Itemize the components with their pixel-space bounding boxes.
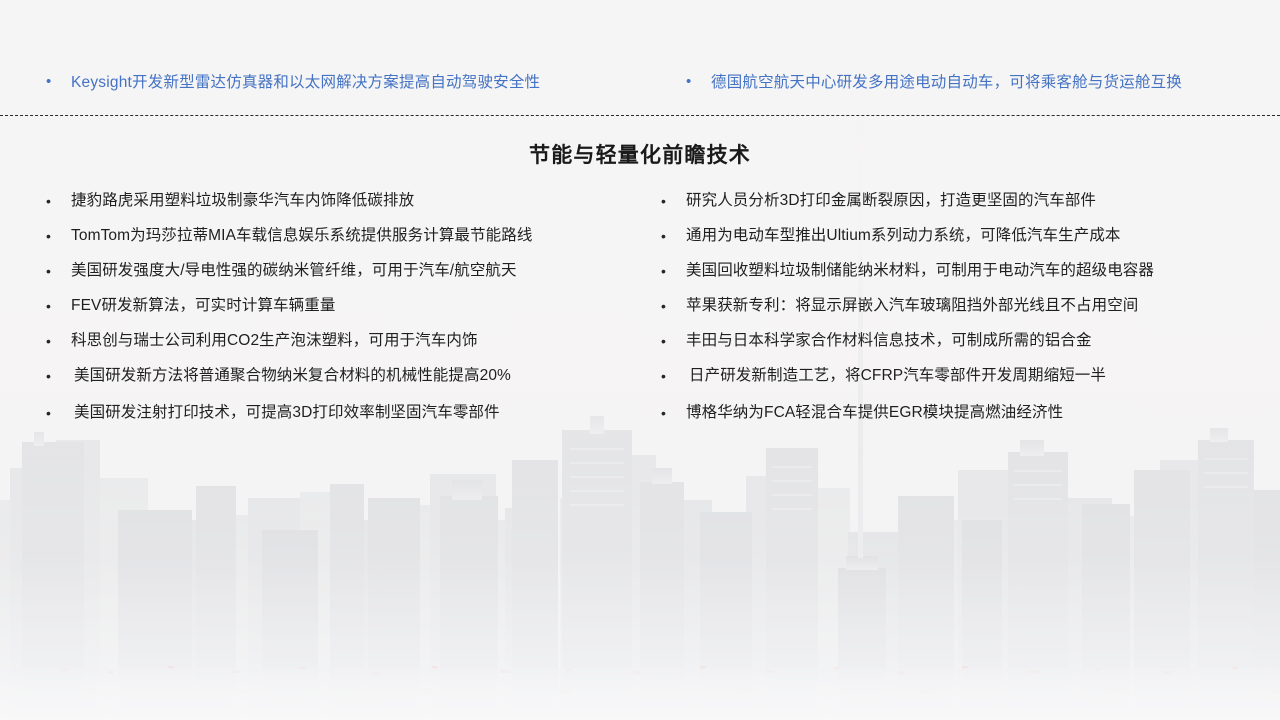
list-item-text: 研究人员分析3D打印金属断裂原因，打造更坚固的汽车部件 (673, 190, 1096, 212)
bullet-icon: • (686, 74, 698, 89)
bullet-icon: • (661, 260, 673, 282)
bullet-icon: • (46, 225, 58, 247)
news-item-1-text: 德国航空航天中心研发多用途电动自动车，可将乘客舱与货运舱互换 (698, 70, 1182, 92)
list-item[interactable]: • FEV研发新算法，可实时计算车辆重量 (46, 295, 640, 330)
list-item-text: 丰田与日本科学家合作材料信息技术，可制成所需的铝合金 (673, 330, 1092, 352)
list-item[interactable]: • 研究人员分析3D打印金属断裂原因，打造更坚固的汽车部件 (661, 190, 1280, 225)
list-item-text: 美国研发注射打印技术，可提高3D打印效率制坚固汽车零部件 (58, 402, 500, 424)
bullet-icon: • (46, 74, 58, 89)
list-item-text: 美国研发新方法将普通聚合物纳米复合材料的机械性能提高20% (58, 365, 511, 387)
list-item[interactable]: • 捷豹路虎采用塑料垃圾制豪华汽车内饰降低碳排放 (46, 190, 640, 225)
bullet-icon: • (661, 402, 673, 424)
bullet-columns: • 捷豹路虎采用塑料垃圾制豪华汽车内饰降低碳排放 • TomTom为玛莎拉蒂MI… (0, 190, 1280, 439)
list-item-text: FEV研发新算法，可实时计算车辆重量 (58, 295, 335, 317)
list-item[interactable]: • 美国研发注射打印技术，可提高3D打印效率制坚固汽车零部件 (46, 402, 640, 439)
bullet-icon: • (661, 330, 673, 352)
list-item[interactable]: • 通用为电动车型推出Ultium系列动力系统，可降低汽车生产成本 (661, 225, 1280, 260)
list-item[interactable]: • 美国回收塑料垃圾制储能纳米材料，可制用于电动汽车的超级电容器 (661, 260, 1280, 295)
list-item[interactable]: • TomTom为玛莎拉蒂MIA车载信息娱乐系统提供服务计算最节能路线 (46, 225, 640, 260)
list-item[interactable]: • 博格华纳为FCA轻混合车提供EGR模块提高燃油经济性 (661, 402, 1280, 439)
page-title: 节能与轻量化前瞻技术 (0, 139, 1280, 169)
list-item-text: 日产研发新制造工艺，将CFRP汽车零部件开发周期缩短一半 (673, 365, 1106, 387)
bullet-icon: • (46, 330, 58, 352)
list-item-text: TomTom为玛莎拉蒂MIA车载信息娱乐系统提供服务计算最节能路线 (58, 225, 532, 247)
list-item[interactable]: • 科思创与瑞士公司利用CO2生产泡沫塑料，可用于汽车内饰 (46, 330, 640, 365)
bullet-icon: • (46, 190, 58, 212)
list-item[interactable]: • 美国研发强度大/导电性强的碳纳米管纤维，可用于汽车/航空航天 (46, 260, 640, 295)
news-item-1[interactable]: • 德国航空航天中心研发多用途电动自动车，可将乘客舱与货运舱互换 (640, 58, 1280, 104)
waterfront-reflection (0, 668, 1280, 720)
list-item-text: 捷豹路虎采用塑料垃圾制豪华汽车内饰降低碳排放 (58, 190, 414, 212)
news-item-0[interactable]: • Keysight开发新型雷达仿真器和以太网解决方案提高自动驾驶安全性 (0, 58, 640, 104)
list-item-text: 苹果获新专利：将显示屏嵌入汽车玻璃阻挡外部光线且不占用空间 (673, 295, 1138, 317)
bullet-icon: • (46, 365, 58, 387)
list-item-text: 博格华纳为FCA轻混合车提供EGR模块提高燃油经济性 (673, 402, 1063, 424)
bullet-icon: • (661, 295, 673, 317)
bullet-icon: • (661, 190, 673, 212)
slide-canvas: • Keysight开发新型雷达仿真器和以太网解决方案提高自动驾驶安全性 • 德… (0, 0, 1280, 720)
dashed-divider (0, 115, 1280, 116)
news-strip: • Keysight开发新型雷达仿真器和以太网解决方案提高自动驾驶安全性 • 德… (0, 58, 1280, 104)
list-item-text: 美国回收塑料垃圾制储能纳米材料，可制用于电动汽车的超级电容器 (673, 260, 1154, 282)
bullet-icon: • (46, 295, 58, 317)
list-item-text: 通用为电动车型推出Ultium系列动力系统，可降低汽车生产成本 (673, 225, 1121, 247)
bullet-icon: • (46, 260, 58, 282)
bullet-icon: • (46, 402, 58, 424)
list-item[interactable]: • 日产研发新制造工艺，将CFRP汽车零部件开发周期缩短一半 (661, 365, 1280, 402)
bullet-icon: • (661, 225, 673, 247)
list-item[interactable]: • 美国研发新方法将普通聚合物纳米复合材料的机械性能提高20% (46, 365, 640, 402)
list-item[interactable]: • 苹果获新专利：将显示屏嵌入汽车玻璃阻挡外部光线且不占用空间 (661, 295, 1280, 330)
news-item-0-text: Keysight开发新型雷达仿真器和以太网解决方案提高自动驾驶安全性 (58, 70, 540, 92)
left-column: • 捷豹路虎采用塑料垃圾制豪华汽车内饰降低碳排放 • TomTom为玛莎拉蒂MI… (0, 190, 640, 439)
list-item[interactable]: • 丰田与日本科学家合作材料信息技术，可制成所需的铝合金 (661, 330, 1280, 365)
bullet-icon: • (661, 365, 673, 387)
list-item-text: 美国研发强度大/导电性强的碳纳米管纤维，可用于汽车/航空航天 (58, 260, 517, 282)
list-item-text: 科思创与瑞士公司利用CO2生产泡沫塑料，可用于汽车内饰 (58, 330, 478, 352)
right-column: • 研究人员分析3D打印金属断裂原因，打造更坚固的汽车部件 • 通用为电动车型推… (640, 190, 1280, 439)
